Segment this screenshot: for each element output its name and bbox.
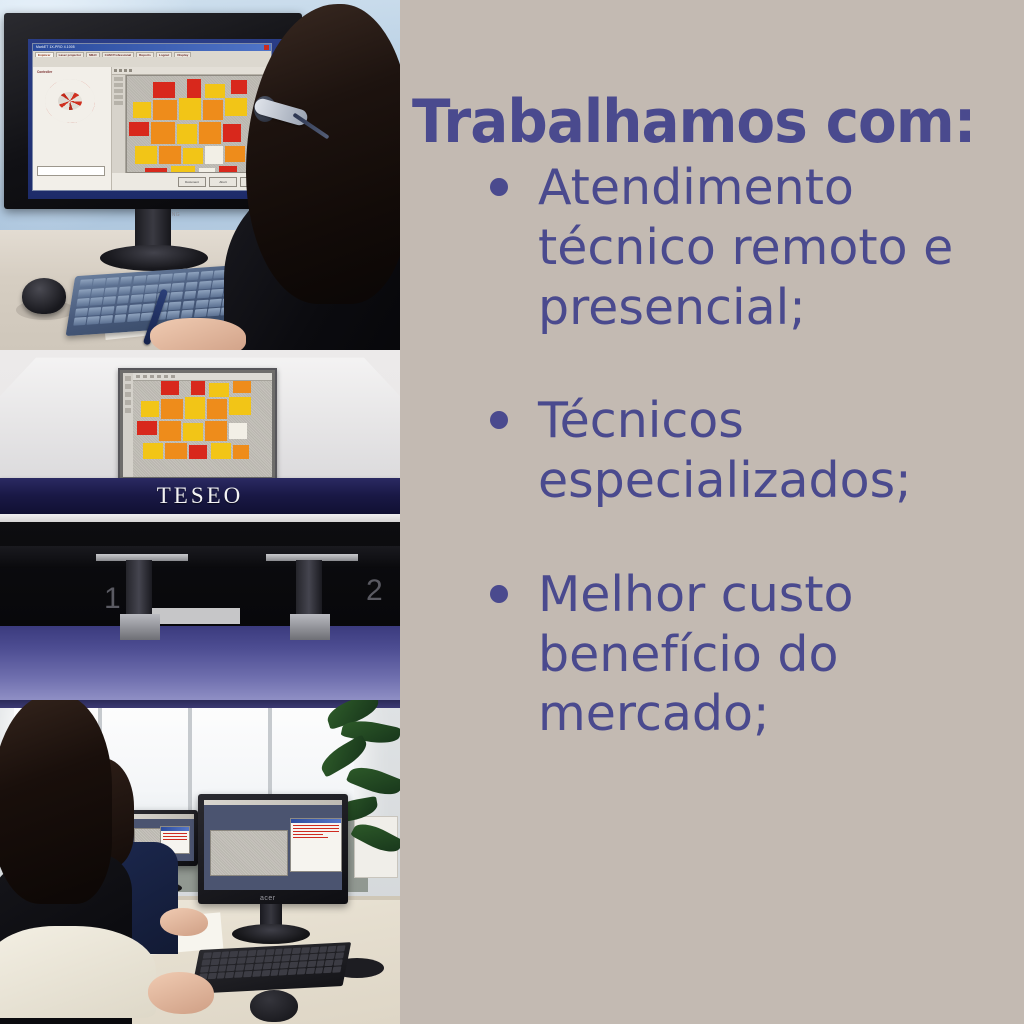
photo2-cutting-head-2 [288, 554, 336, 642]
photo1-app-body: Controller [33, 67, 271, 190]
photo1-app-window: MarkET 1X-PRO 4.1005 Explorer Laser proj… [32, 43, 272, 191]
photo2-head-number-1: 1 [104, 582, 121, 616]
photo3-mouse [250, 990, 298, 1022]
toolbar-icon[interactable] [114, 69, 117, 72]
photo1-app-vertical-tools[interactable] [112, 75, 126, 173]
photo3-monitor-front-base [232, 924, 310, 944]
photo3-person-front [0, 700, 142, 1024]
photo1-app-window-title: MarkET 1X-PRO 4.1005 [36, 45, 75, 49]
photo2-head-number-2: 2 [366, 574, 383, 608]
photo2-display-canvas [133, 373, 272, 477]
tab-mild[interactable]: MILD [86, 52, 100, 57]
photo1-app-tabbar: Explorer Laser projector MILD CAM Profes… [33, 51, 271, 68]
photo1-operator-hair [246, 4, 400, 304]
toolbar-icon[interactable] [129, 69, 132, 72]
tab-reports[interactable]: Reports [136, 52, 154, 57]
bullet-text: Técnicos especializados; [538, 391, 986, 511]
photo3-monitor-front: acer [198, 794, 348, 904]
photo2-display-titlebar [133, 373, 272, 381]
photo2-display-toolstrip [123, 373, 133, 477]
photo3-monitor-brand: acer [260, 895, 276, 902]
tool-icon[interactable] [114, 77, 123, 81]
photo1-operator-hand [150, 318, 246, 350]
photo1-app-left-pane: Controller [33, 67, 112, 190]
content-column: Trabalhamos com: Atendimento técnico rem… [400, 0, 1024, 1024]
photo1-monitor-base [100, 245, 208, 271]
photo1-ring-preview [45, 79, 95, 123]
document-button[interactable]: Document [178, 177, 206, 187]
photo1-operator [238, 0, 400, 350]
tab-cam-professional[interactable]: CAM Professional [102, 52, 134, 57]
photo2-machine-display [118, 368, 277, 482]
photo3-monitor-front-screen [204, 800, 342, 890]
photo2-brand-band: TESEO [0, 478, 400, 514]
toolbar-icon[interactable] [119, 69, 122, 72]
list-item: Técnicos especializados; [400, 391, 1024, 511]
tab-explorer[interactable]: Explorer [35, 52, 54, 57]
photo3-person-front-hand [148, 972, 214, 1014]
photo3-keyboard-keys [196, 945, 345, 990]
photo3-front-cad-view [210, 830, 288, 876]
tab-logout[interactable]: Logout [156, 52, 172, 57]
list-item: Atendimento técnico remoto e presencial; [400, 158, 1024, 337]
photo3-front-dialog [290, 818, 342, 872]
bullet-text: Melhor custo benefício do mercado; [538, 565, 986, 744]
photo1-text-input[interactable] [37, 166, 105, 176]
abort-button[interactable]: Abort [209, 177, 237, 187]
bullet-dot-icon [490, 411, 508, 429]
tool-icon[interactable] [114, 83, 123, 87]
tab-display[interactable]: Display [174, 52, 191, 57]
photo1-app-tabs-top: Explorer Laser projector MILD CAM Profes… [33, 51, 271, 58]
photo1-mouse [22, 278, 66, 314]
teseo-logo: TESEO [157, 483, 244, 509]
page-title: Trabalhamos com: [412, 92, 975, 152]
slide-root: MarkET 1X-PRO 4.1005 Explorer Laser proj… [0, 0, 1024, 1024]
bullet-text: Atendimento técnico remoto e presencial; [538, 158, 986, 337]
bullet-dot-icon [490, 585, 508, 603]
list-item: Melhor custo benefício do mercado; [400, 565, 1024, 744]
photo-operator-headset: MarkET 1X-PRO 4.1005 Explorer Laser proj… [0, 0, 400, 350]
photo1-app-titlebar: MarkET 1X-PRO 4.1005 [33, 44, 271, 51]
photo2-machine-rail [0, 514, 400, 522]
photo2-cutting-table [0, 626, 400, 700]
photo3-keyboard [191, 942, 351, 994]
toolbar-icon[interactable] [124, 69, 127, 72]
bullet-dot-icon [490, 178, 508, 196]
tool-icon[interactable] [114, 95, 123, 99]
bullet-list: Atendimento técnico remoto e presencial;… [400, 158, 1024, 744]
tool-icon[interactable] [114, 89, 123, 93]
photo1-panel-label: Controller [37, 70, 52, 74]
tab-laser-projector[interactable]: Laser projector [56, 52, 85, 57]
photo-office-workstations: acer [0, 700, 400, 1024]
photo2-cutting-head-1 [118, 554, 166, 642]
photo3-window-mullion [188, 706, 192, 826]
photo-column: MarkET 1X-PRO 4.1005 Explorer Laser proj… [0, 0, 400, 1024]
photo3-front-titlebar [204, 800, 342, 805]
photo-teseo-machine: TESEO 1 2 [0, 350, 400, 700]
tool-icon[interactable] [114, 101, 123, 105]
